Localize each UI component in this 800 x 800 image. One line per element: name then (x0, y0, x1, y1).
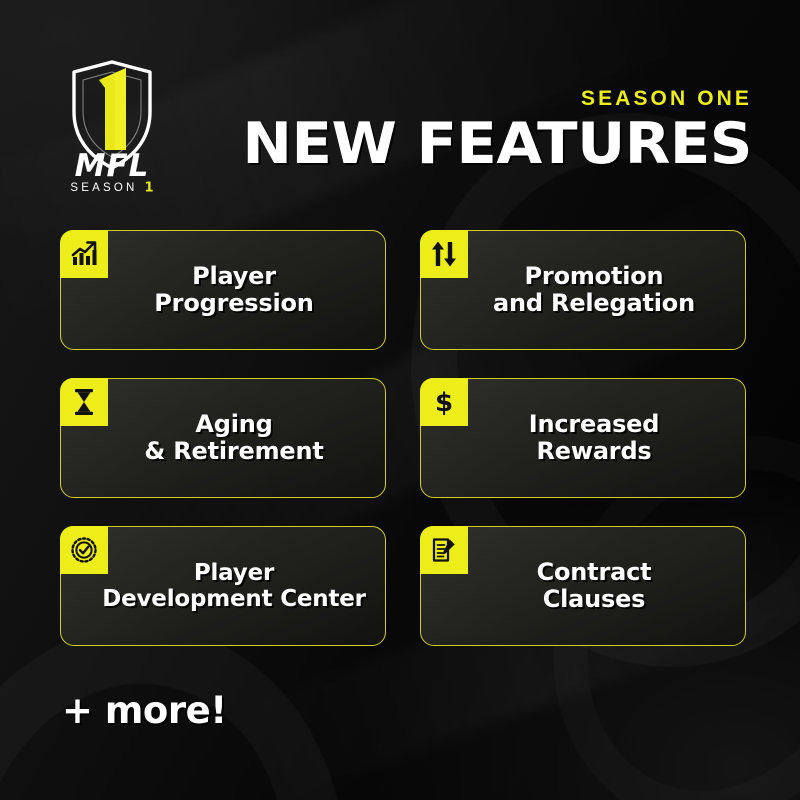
feature-card-grid: Player Progression Promotion and Relegat… (60, 230, 746, 646)
feature-card-label: Aging & Retirement (114, 411, 331, 465)
season-kicker: SEASON ONE (262, 88, 752, 109)
hourglass-icon (60, 378, 108, 426)
logo-number-one (99, 68, 126, 150)
logo-wordmark: MFL (75, 148, 150, 184)
dollar-icon: $ (420, 378, 468, 426)
feature-card-player-development-center[interactable]: Player Development Center (60, 526, 386, 646)
feature-card-label: Player Development Center (72, 560, 374, 612)
check-circle-icon (60, 526, 108, 574)
feature-card-label: Player Progression (124, 263, 321, 317)
feature-card-label: Contract Clauses (507, 559, 660, 613)
chart-up-icon (60, 230, 108, 278)
arrows-up-down-icon (420, 230, 468, 278)
feature-card-promotion-and-relegation[interactable]: Promotion and Relegation (420, 230, 746, 350)
feature-card-label: Increased Rewards (499, 411, 668, 465)
feature-card-label: Promotion and Relegation (463, 263, 703, 317)
poster-canvas: MFL SEASON 1 SEASON ONE NEW FEATURES (0, 0, 800, 800)
svg-text:SEASON: SEASON (70, 182, 137, 194)
svg-text:MFL: MFL (75, 148, 150, 184)
feature-card-contract-clauses[interactable]: Contract Clauses (420, 526, 746, 646)
feature-card-increased-rewards[interactable]: $ Increased Rewards (420, 378, 746, 498)
header: SEASON ONE NEW FEATURES (262, 88, 752, 173)
feature-card-player-progression[interactable]: Player Progression (60, 230, 386, 350)
svg-text:1: 1 (144, 181, 153, 196)
feature-card-aging-and-retirement[interactable]: Aging & Retirement (60, 378, 386, 498)
svg-text:$: $ (435, 388, 453, 417)
more-label: + more! (62, 692, 227, 729)
document-pencil-icon (420, 526, 468, 574)
mfl-logo: MFL SEASON 1 (52, 46, 172, 196)
page-title: NEW FEATURES (242, 116, 752, 173)
